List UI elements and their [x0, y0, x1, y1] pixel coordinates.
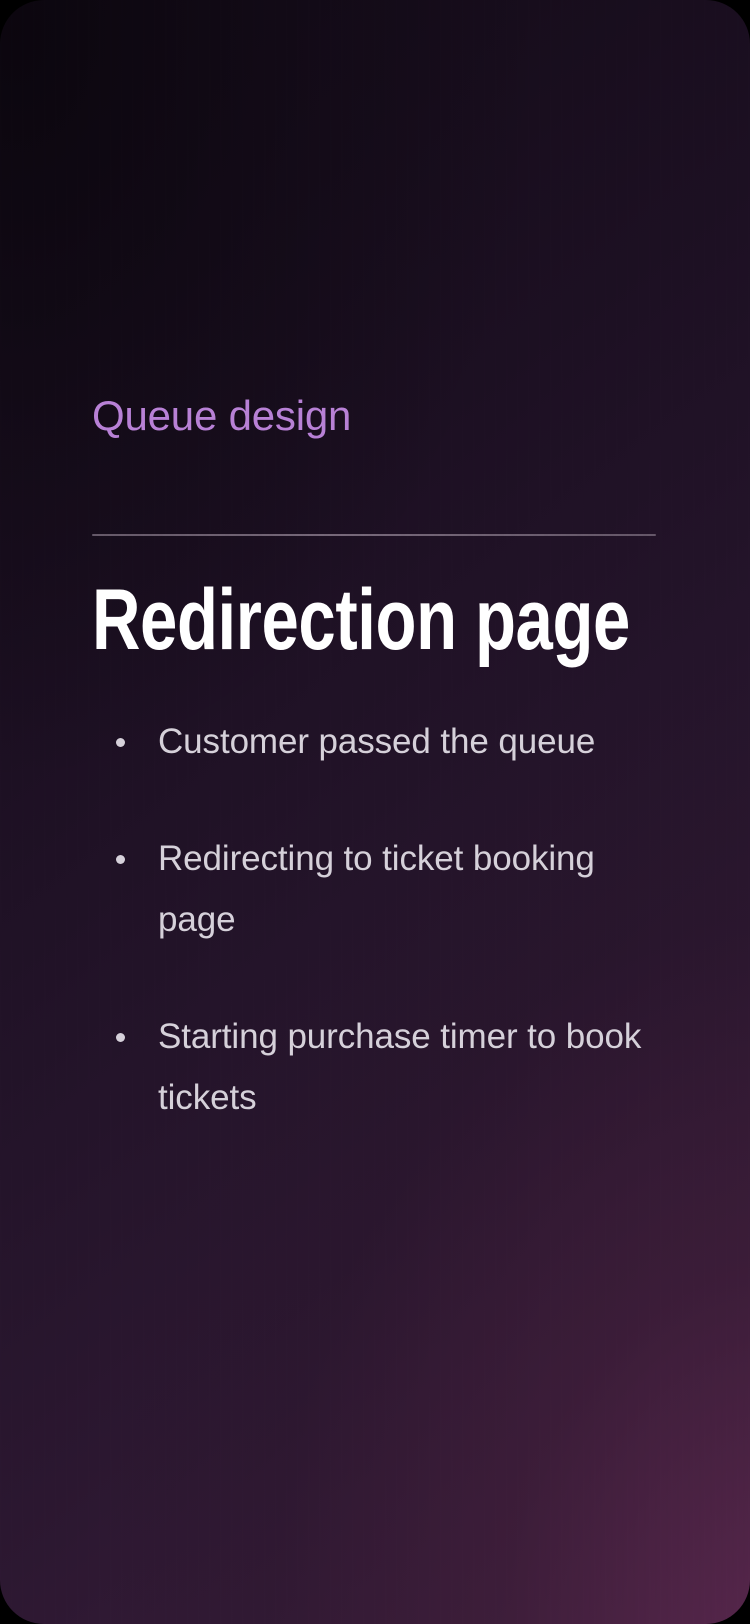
- title-container: Redirection page: [92, 578, 690, 662]
- list-item: Customer passed the queue: [110, 712, 680, 773]
- list-item-label: Customer passed the queue: [158, 712, 680, 773]
- list-item-label: Starting purchase timer to book tickets: [158, 1007, 680, 1129]
- slide-canvas: Queue design Redirection page Customer p…: [0, 0, 750, 1624]
- list-item: Redirecting to ticket booking page: [110, 829, 680, 951]
- eyebrow-label: Queue design: [92, 392, 658, 439]
- header-divider: [92, 534, 656, 536]
- bullet-dot-icon: [116, 1033, 125, 1042]
- slide-content: Queue design: [92, 392, 658, 439]
- bullet-list: Customer passed the queue Redirecting to…: [110, 712, 680, 1128]
- list-item: Starting purchase timer to book tickets: [110, 1007, 680, 1129]
- page-title: Redirection page: [92, 578, 558, 662]
- list-item-label: Redirecting to ticket booking page: [158, 829, 680, 951]
- bullet-dot-icon: [116, 855, 125, 864]
- bullet-dot-icon: [116, 738, 125, 747]
